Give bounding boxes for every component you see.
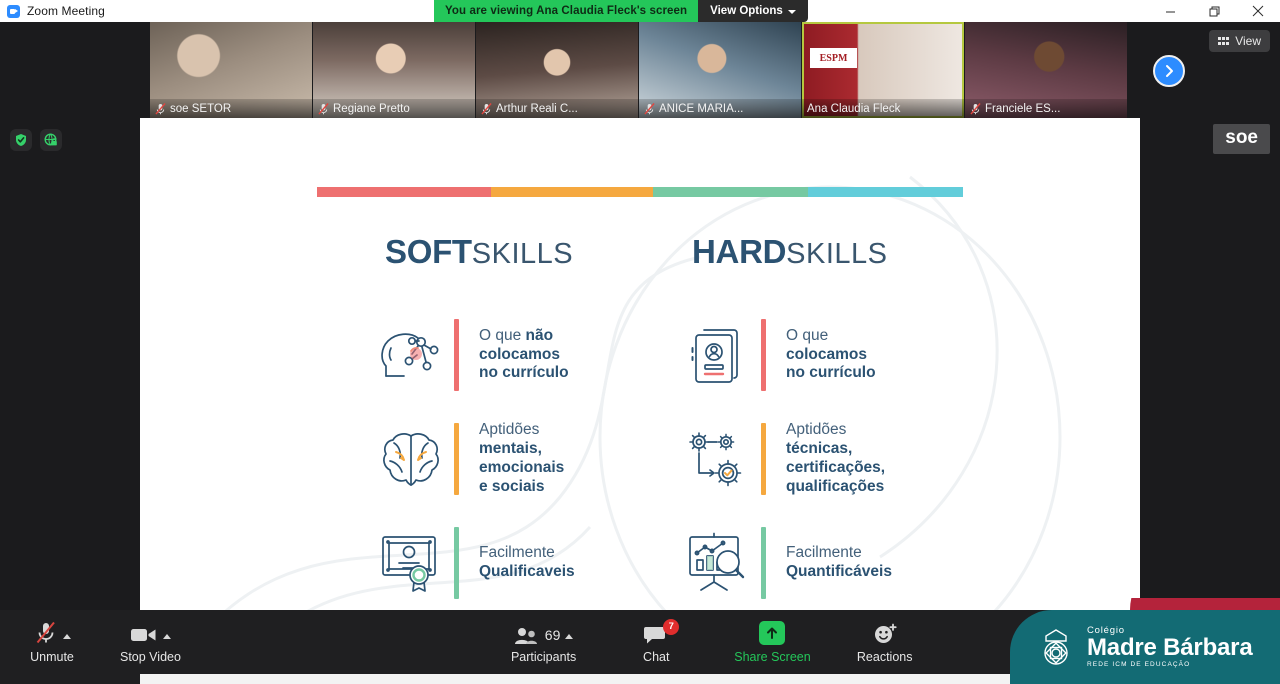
hard-skills-row: O que colocamos no currículo [677,303,1097,407]
participant-thumbnail[interactable]: Regiane Pretto [313,22,475,118]
row-line-3: no currículo [786,364,876,381]
slide-color-bar [317,187,963,197]
mic-off-icon [970,103,981,115]
participant-thumbnail-active-speaker[interactable]: ESPM Ana Claudia Fleck [802,22,964,118]
chart-magnifier-icon [677,532,759,594]
row-text: O que colocamos no currículo [786,327,876,384]
row-text: Facilmente Qualificaveis [479,544,575,582]
row-line-2: técnicas, [786,440,852,457]
thumbnail-name: Franciele ES... [985,103,1060,115]
logo-text-block: Colégio Madre Bárbara REDE ICM DE EDUCAÇ… [1087,626,1252,669]
row-accent-bar [454,423,459,495]
self-view-name-label: soe [1213,124,1270,154]
share-screen-button[interactable]: Share Screen [734,613,810,671]
thumbnail-name-bar: Ana Claudia Fleck [802,99,964,118]
thumbnail-name: ANICE MARIA... [659,103,743,115]
share-up-arrow-icon [759,621,785,645]
thumbnail-name-bar: soe SETOR [150,99,312,118]
view-button-label: View [1235,34,1261,48]
thumbnail-name: Regiane Pretto [333,103,410,115]
encryption-indicators [10,129,62,151]
view-options-button[interactable]: View Options [698,0,808,22]
participant-thumbnail[interactable]: Arthur Reali C... [476,22,638,118]
thumbnail-list: soe SETOR Regiane Pretto [150,22,1127,118]
row-line-2: mentais, [479,440,542,457]
hard-heading-light: SKILLS [786,238,887,270]
reactions-label: Reactions [857,650,913,664]
presentation-slide: SOFTSKILLS HARDSKILLS [180,157,1100,623]
view-options-label: View Options [710,5,783,17]
thumbnail-name-bar: Regiane Pretto [313,99,475,118]
row-line-1-bold: não [526,327,554,344]
certificate-icon [370,533,452,593]
people-icon [514,627,540,645]
participants-caret-icon[interactable] [565,634,573,639]
row-text: O que não colocamos no currículo [479,327,569,384]
shared-screen-area[interactable]: SOFTSKILLS HARDSKILLS [140,118,1140,623]
thumbnail-name: Ana Claudia Fleck [807,103,900,115]
row-accent-bar [761,319,766,391]
video-options-caret-icon[interactable] [163,634,171,639]
window-title: Zoom Meeting [27,4,105,18]
row-line-4: e sociais [479,478,545,495]
logo-teal-panel: Colégio Madre Bárbara REDE ICM DE EDUCAÇ… [1010,610,1280,684]
gears-check-icon [677,429,759,489]
thumbnail-name: Arthur Reali C... [496,103,578,115]
taskbar-left-filler [0,674,140,684]
viewing-status-text: You are viewing Ana Claudia Fleck's scre… [434,0,698,22]
row-line-2: Qualificaveis [479,563,575,580]
mic-off-icon [481,103,492,115]
mic-off-icon [318,103,329,115]
chat-unread-badge: 7 [663,619,679,635]
row-text: Aptidões técnicas, certificações, qualif… [786,421,885,497]
hard-skills-heading: HARDSKILLS [692,233,887,271]
mic-off-icon [155,103,166,115]
audio-options-caret-icon[interactable] [63,634,71,639]
smiley-plus-icon [873,623,897,645]
soft-heading-light: SKILLS [472,238,573,270]
share-screen-label: Share Screen [734,650,810,664]
hard-skills-row: Aptidões técnicas, certificações, qualif… [677,407,1097,511]
close-icon[interactable] [1236,0,1280,22]
school-logo-overlay: Colégio Madre Bárbara REDE ICM DE EDUCAÇ… [1010,598,1280,684]
shield-check-icon[interactable] [10,129,32,151]
stop-video-label: Stop Video [120,650,181,664]
participant-thumbnail[interactable]: soe SETOR [150,22,312,118]
row-line-2: colocamos [786,346,867,363]
mic-off-icon [644,103,655,115]
row-line-1: Facilmente [786,544,862,561]
row-line-2: Quantificáveis [786,563,892,580]
participant-thumbnail[interactable]: ANICE MARIA... [639,22,801,118]
screen-share-banner: You are viewing Ana Claudia Fleck's scre… [434,0,808,22]
participant-thumbnail[interactable]: Franciele ES... [965,22,1127,118]
minimize-icon[interactable] [1148,0,1192,22]
soft-skills-heading: SOFTSKILLS [385,233,573,271]
chevron-right-icon [1162,64,1176,78]
thumbnail-name: soe SETOR [170,103,231,115]
participant-filmstrip: soe SETOR Regiane Pretto [0,22,1280,118]
unmute-label: Unmute [30,650,74,664]
row-line-3: emocionais [479,459,564,476]
thumbnail-name-bar: Arthur Reali C... [476,99,638,118]
participants-button[interactable]: 69 Participants [511,613,576,671]
row-accent-bar [454,527,459,599]
resume-document-icon [677,324,759,386]
row-line-1: O que [786,327,828,344]
participants-label: Participants [511,650,576,664]
soft-heading-bold: SOFT [385,233,472,270]
chat-label: Chat [643,650,669,664]
color-segment-cyan [808,187,963,197]
restore-icon[interactable] [1192,0,1236,22]
row-line-3: no currículo [479,364,569,381]
hard-heading-bold: HARD [692,233,786,270]
view-layout-button[interactable]: View [1209,30,1270,52]
row-text: Facilmente Quantificáveis [786,544,892,582]
logo-line-2: Madre Bárbara [1087,636,1252,660]
window-controls [1148,0,1280,22]
row-line-1: Facilmente [479,544,555,561]
color-segment-orange [491,187,653,197]
stop-video-button[interactable]: Stop Video [120,613,181,671]
reactions-button[interactable]: Reactions [855,613,915,671]
globe-lock-icon[interactable] [40,129,62,151]
color-segment-red [317,187,491,197]
camera-icon [130,625,158,645]
color-segment-green [653,187,808,197]
next-page-arrow-button[interactable] [1153,55,1185,87]
row-line-3: certificações, [786,459,885,476]
row-line-1: O que [479,327,526,344]
row-text: Aptidões mentais, emocionais e sociais [479,421,564,497]
zoom-camera-icon [7,5,20,18]
thumbnail-name-bar: Franciele ES... [965,99,1127,118]
grid-view-icon [1218,37,1229,44]
thumbnail-name-bar: ANICE MARIA... [639,99,801,118]
brain-icon [370,428,452,490]
head-network-icon [370,324,452,386]
row-line-2: colocamos [479,346,560,363]
row-line-1: Aptidões [479,421,539,438]
star-ornament-icon [1036,627,1076,667]
row-accent-bar [454,319,459,391]
row-accent-bar [761,423,766,495]
row-accent-bar [761,527,766,599]
row-line-4: qualificações [786,478,884,495]
logo-line-3: REDE ICM DE EDUCAÇÃO [1087,662,1252,669]
mic-off-icon [34,621,58,645]
espm-backdrop-text: ESPM [810,48,857,68]
chat-button[interactable]: 7 Chat [626,613,686,671]
chevron-down-icon [788,10,796,14]
row-line-1: Aptidões [786,421,846,438]
hard-skills-column: O que colocamos no currículo [677,303,1097,615]
participants-count: 69 [545,628,561,642]
unmute-button[interactable]: Unmute [22,613,82,671]
